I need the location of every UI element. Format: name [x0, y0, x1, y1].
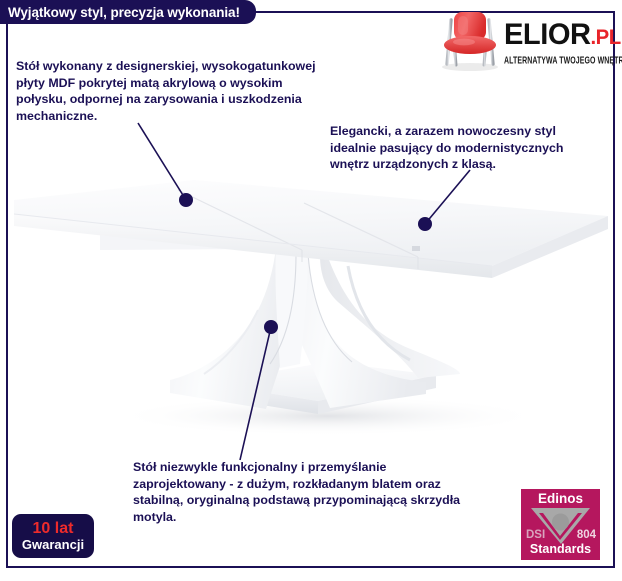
warranty-badge: 10 lat Gwarancji	[12, 514, 94, 558]
callout-text-function: Stół niezwykle funkcjonalny i przemyślan…	[133, 459, 463, 525]
logo-tagline: ALTERNATYWA TWOJEGO WNĘTRZA	[504, 54, 601, 66]
header-banner-text: Wyjątkowy styl, precyzja wykonania!	[8, 5, 240, 20]
edinos-code-left: DSI	[526, 529, 545, 541]
logo-brand-text: ELIOR	[504, 18, 590, 51]
logo-wordmark: ELIOR.PL ALTERNATYWA TWOJEGO WNĘTRZA	[504, 20, 604, 63]
callout-text-style: Elegancki, a zarazem nowoczesny styl ide…	[330, 123, 605, 173]
warranty-label-text: Gwarancji	[22, 537, 84, 552]
edinos-standards-text: Standards	[521, 543, 600, 556]
edinos-title-text: Edinos	[521, 491, 600, 506]
warranty-years-text: 10 lat	[33, 520, 74, 537]
edinos-certification-badge: Edinos DSI 804 Standards	[521, 489, 600, 560]
edinos-code-right: 804	[577, 529, 596, 541]
brand-logo: ELIOR.PL ALTERNATYWA TWOJEGO WNĘTRZA	[432, 6, 604, 74]
logo-tld-text: .PL	[590, 26, 620, 49]
product-photo	[8, 178, 614, 440]
product-infographic: Wyjątkowy styl, precyzja wykonania!	[0, 0, 622, 581]
header-banner: Wyjątkowy styl, precyzja wykonania!	[0, 0, 256, 24]
red-chair-icon	[434, 7, 506, 73]
callout-text-material: Stół wykonany z designerskiej, wysokogat…	[16, 58, 336, 124]
